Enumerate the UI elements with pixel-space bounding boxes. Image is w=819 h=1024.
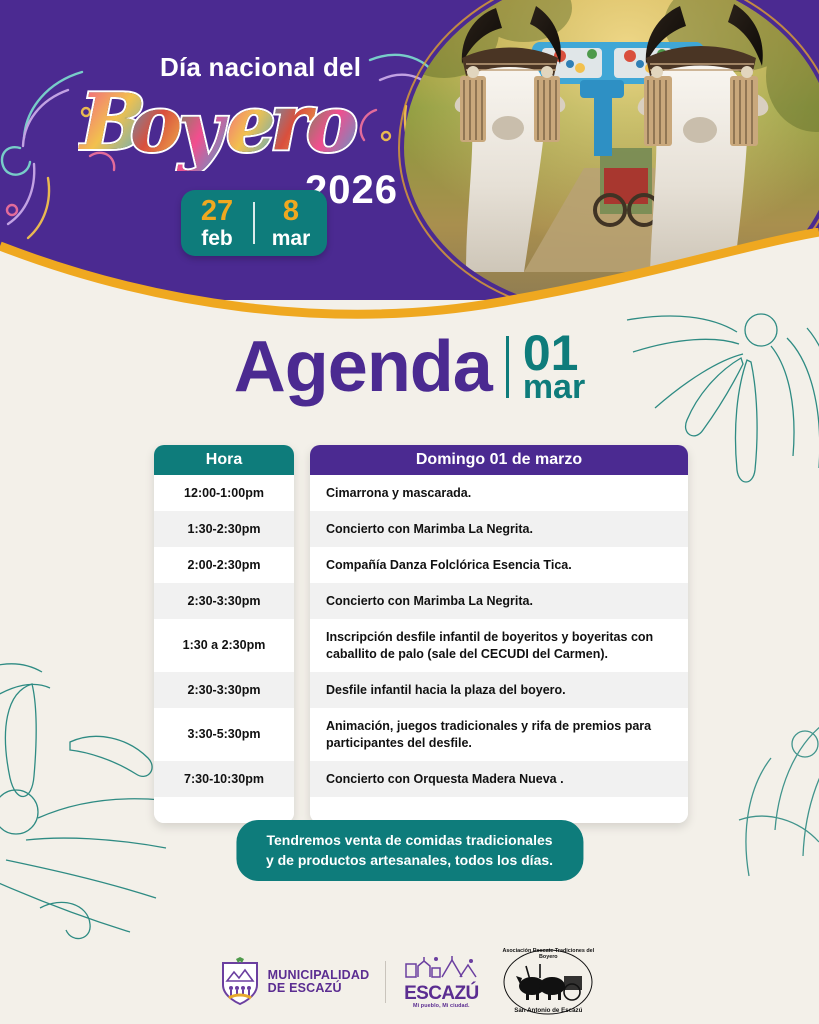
table-row-programa: Compañía Danza Folclórica Esencia Tica. [310, 547, 688, 583]
agenda-date: 01 mar [523, 330, 585, 403]
table-row-hora: 7:30-10:30pm [154, 761, 294, 797]
table-row-programa: Animación, juegos tradicionales y rifa d… [310, 708, 688, 761]
association-arc-text: Asociación Rescate Tradiciones del Boyer… [496, 948, 600, 960]
escazu-tagline: Mi pueblo, Mi ciudad. [402, 1004, 480, 1009]
date-start-day: 27 [181, 197, 253, 226]
svg-text:y: y [176, 85, 228, 171]
agenda-column-hora: Hora 12:00-1:00pm1:30-2:30pm2:00-2:30pm2… [154, 445, 294, 823]
agenda-table: Hora 12:00-1:00pm1:30-2:30pm2:00-2:30pm2… [154, 445, 688, 823]
agenda-heading: Agenda 01 mar [0, 330, 819, 403]
poster-title-block: Día nacional del B B o o y y e [78, 52, 438, 213]
programa-cell-list: Cimarrona y mascarada.Concierto con Mari… [310, 475, 688, 797]
table-row-programa: Concierto con Marimba La Negrita. [310, 583, 688, 619]
footer-divider [385, 961, 386, 1003]
gold-wave-divider [0, 228, 819, 324]
table-row-programa: Concierto con Orquesta Madera Nueva . [310, 761, 688, 797]
agenda-divider [506, 336, 509, 398]
table-row-hora: 12:00-1:00pm [154, 475, 294, 511]
svg-text:o: o [306, 79, 358, 170]
date-end-day: 8 [255, 197, 327, 226]
agenda-month: mar [523, 372, 585, 403]
boyero-wordmark-icon: B B o o y y e e r r o o [78, 79, 408, 171]
flourish-bottom-left-icon [0, 612, 176, 942]
escazu-wordmark: ESCAZÚ [402, 984, 480, 1003]
association-place-text: San Antonio de Escazú [496, 1007, 600, 1014]
hora-cell-list: 12:00-1:00pm1:30-2:30pm2:00-2:30pm2:30-3… [154, 475, 294, 797]
svg-text:o: o [130, 79, 182, 170]
municipality-line-1: MUNICIPALIDAD [268, 969, 370, 982]
table-row-hora: 3:30-5:30pm [154, 708, 294, 761]
table-row-hora: 2:30-3:30pm [154, 583, 294, 619]
agenda-column-programa: Domingo 01 de marzo Cimarrona y mascarad… [310, 445, 688, 823]
association-logo: Asociación Rescate Tradiciones del Boyer… [496, 946, 600, 1018]
shield-crest-icon [219, 957, 261, 1007]
flourish-bottom-right-icon [679, 700, 819, 930]
column-header-hora: Hora [154, 445, 294, 475]
agenda-title-text: Agenda [234, 331, 492, 403]
table-row-programa: Inscripción desfile infantil de boyerito… [310, 619, 688, 672]
table-row-hora: 1:30 a 2:30pm [154, 619, 294, 672]
column-header-programa: Domingo 01 de marzo [310, 445, 688, 475]
poster-footer: MUNICIPALIDAD DE ESCAZÚ ESCAZÚ Mi pueblo… [0, 940, 819, 1024]
municipality-logo: MUNICIPALIDAD DE ESCAZÚ [219, 957, 370, 1007]
svg-text:e: e [226, 79, 276, 170]
escazu-city-logo: ESCAZÚ Mi pueblo, Mi ciudad. [402, 954, 480, 1009]
table-row-programa: Desfile infantil hacia la plaza del boye… [310, 672, 688, 708]
municipality-text: MUNICIPALIDAD DE ESCAZÚ [268, 969, 370, 996]
city-skyline-icon [402, 954, 480, 980]
municipality-line-2: DE ESCAZÚ [268, 982, 370, 995]
table-row-hora: 2:30-3:30pm [154, 672, 294, 708]
table-row-hora: 2:00-2:30pm [154, 547, 294, 583]
table-row-programa: Cimarrona y mascarada. [310, 475, 688, 511]
food-note-banner: Tendremos venta de comidas tradicionales… [236, 820, 583, 881]
table-row-hora: 1:30-2:30pm [154, 511, 294, 547]
table-row-programa: Concierto con Marimba La Negrita. [310, 511, 688, 547]
